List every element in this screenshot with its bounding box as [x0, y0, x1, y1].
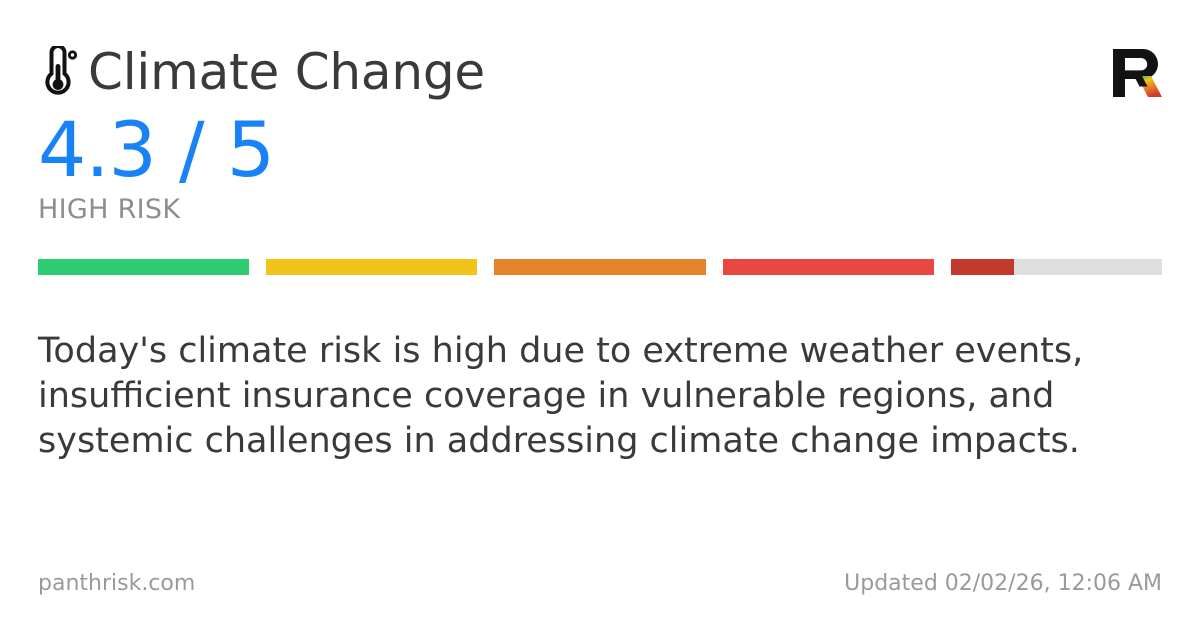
- meter-segment-3-fill: [494, 259, 705, 275]
- pantheon-r-logo-icon: [1110, 46, 1162, 100]
- meter-segment-3: [494, 259, 705, 275]
- risk-description: Today's climate risk is high due to extr…: [38, 329, 1166, 464]
- meter-segment-4: [723, 259, 934, 275]
- score-block: 4.3 / 5 HIGH RISK: [38, 108, 274, 226]
- meter-segment-2: [266, 259, 477, 275]
- meter-segment-2-fill: [266, 259, 477, 275]
- footer-updated-timestamp: Updated 02/02/26, 12:06 AM: [844, 570, 1162, 598]
- page-title: Climate Change: [88, 44, 485, 100]
- meter-segment-5: [951, 259, 1162, 275]
- risk-level-label: HIGH RISK: [38, 194, 274, 226]
- title-block: Climate Change: [38, 44, 485, 100]
- score-value: 4.3 / 5: [38, 108, 274, 192]
- risk-meter: [38, 259, 1162, 275]
- footer: panthrisk.com Updated 02/02/26, 12:06 AM: [38, 570, 1162, 598]
- meter-segment-4-fill: [723, 259, 934, 275]
- risk-score-card: Climate Change: [0, 0, 1200, 630]
- meter-segment-5-fill: [951, 259, 1014, 275]
- thermometer-icon: [38, 46, 78, 98]
- footer-site-name: panthrisk.com: [38, 570, 195, 598]
- meter-segment-1: [38, 259, 249, 275]
- meter-segment-1-fill: [38, 259, 249, 275]
